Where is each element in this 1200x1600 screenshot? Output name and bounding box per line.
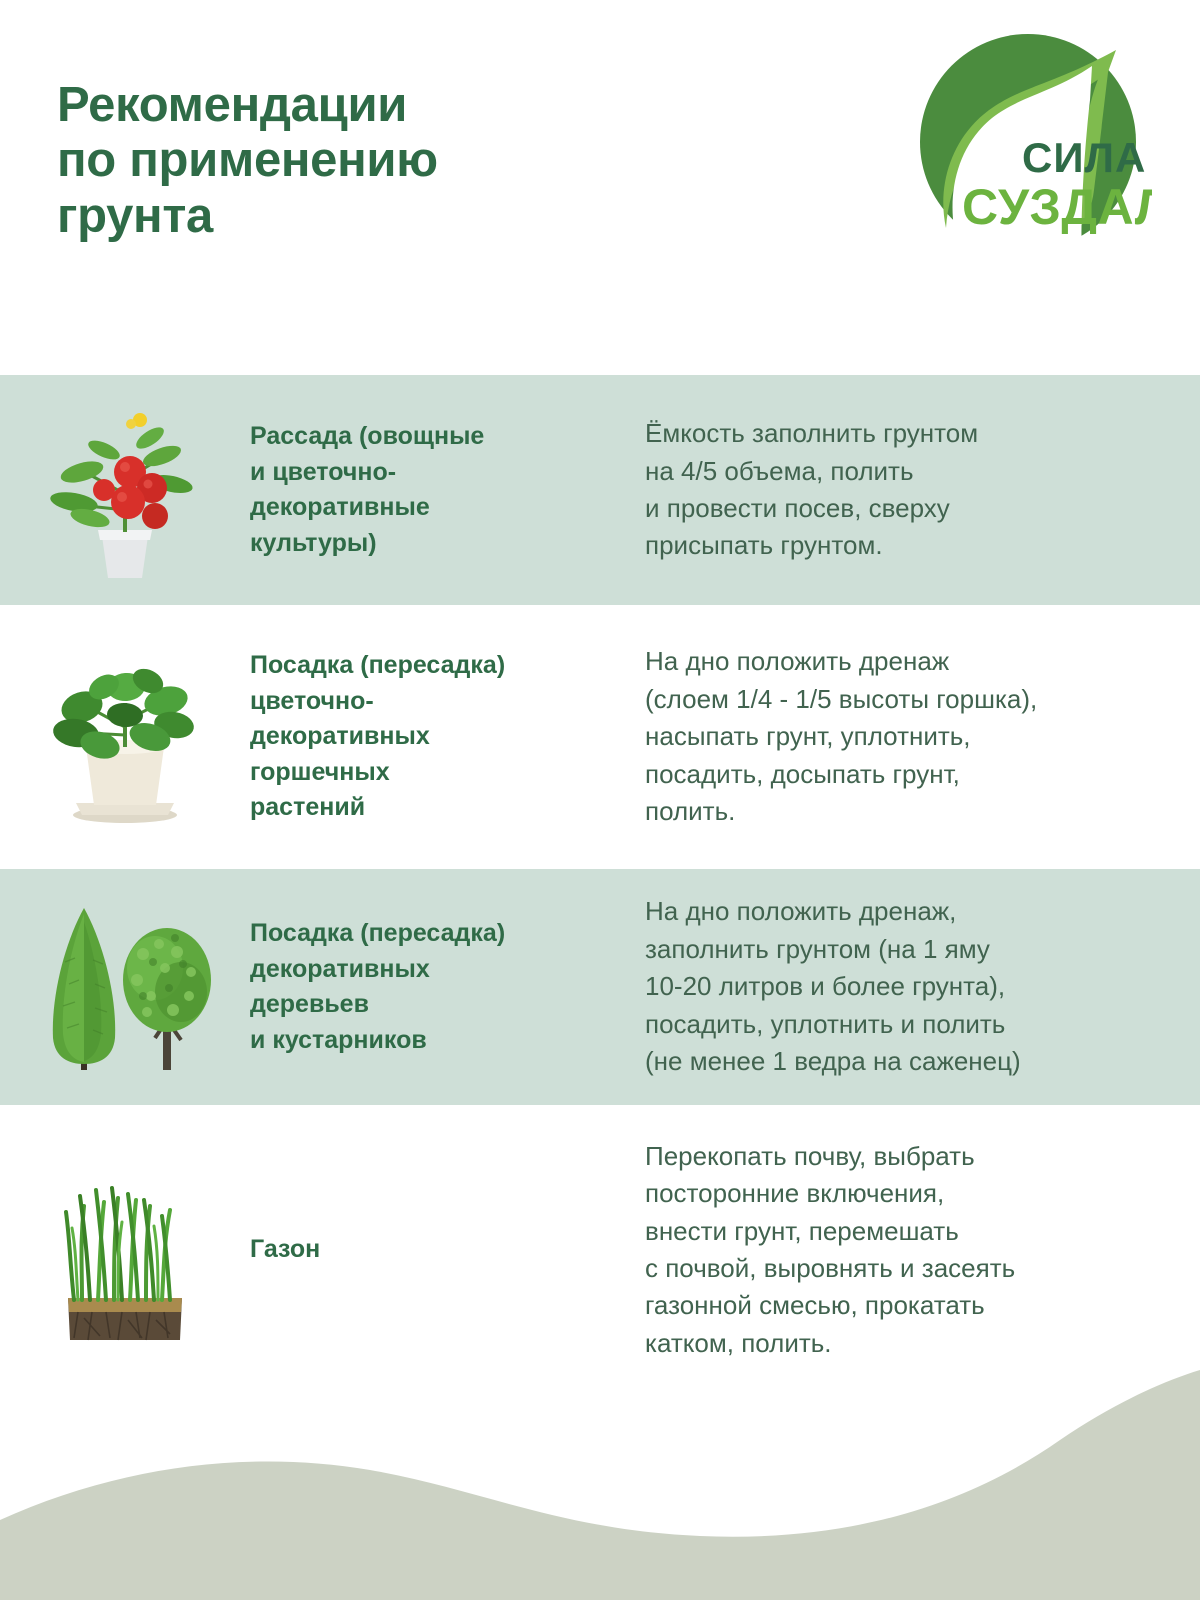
row-title-trees-shrubs: Посадка (пересадка) декоративных деревье… [250,916,645,1058]
row-description-potted-plants: На дно положить дренаж (слоем 1/4 - 1/5 … [645,643,1200,830]
lawn-turf-icon [30,1150,220,1350]
row-description-seedlings: Ёмкость заполнить грунтом на 4/5 объема,… [645,415,1200,565]
row-seedlings: Рассада (овощные и цветочно- декоративны… [0,375,1200,605]
sila-suzdalya-logo: СИЛА СУЗДАЛЯ [904,22,1152,274]
recommendation-rows: Рассада (овощные и цветочно- декоративны… [0,375,1200,1395]
row-title-lawn: Газон [250,1232,645,1268]
row-title-potted-plants: Посадка (пересадка) цветочно- декоративн… [250,648,645,826]
row-potted-plants: Посадка (пересадка) цветочно- декоративн… [0,605,1200,869]
tomato-seedling-icon [30,398,220,583]
row-trees-shrubs: Посадка (пересадка) декоративных деревье… [0,869,1200,1105]
page-title: Рекомендации по применению грунта [57,78,438,244]
trees-shrubs-icon [25,892,225,1082]
row-title-seedlings: Рассада (овощные и цветочно- декоративны… [250,419,645,561]
logo-text-line1: СИЛА [1022,134,1146,181]
row-media-potted-plant [0,605,250,869]
infographic-page: Рекомендации по применению грунта СИЛА С… [0,0,1200,1600]
header: Рекомендации по применению грунта СИЛА С… [0,0,1200,375]
potted-plant-icon [30,637,220,837]
row-description-trees-shrubs: На дно положить дренаж, заполнить грунто… [645,893,1200,1080]
bottom-wave-decoration [0,1370,1200,1600]
logo-text-line2: СУЗДАЛЯ [962,179,1152,235]
row-description-lawn: Перекопать почву, выбрать посторонние вк… [645,1138,1200,1363]
row-lawn: Газон Перекопать почву, выбрать посторон… [0,1105,1200,1395]
wave-shape [0,1370,1200,1600]
row-media-lawn [0,1105,250,1395]
row-media-seedlings [0,375,250,605]
row-media-trees [0,869,250,1105]
